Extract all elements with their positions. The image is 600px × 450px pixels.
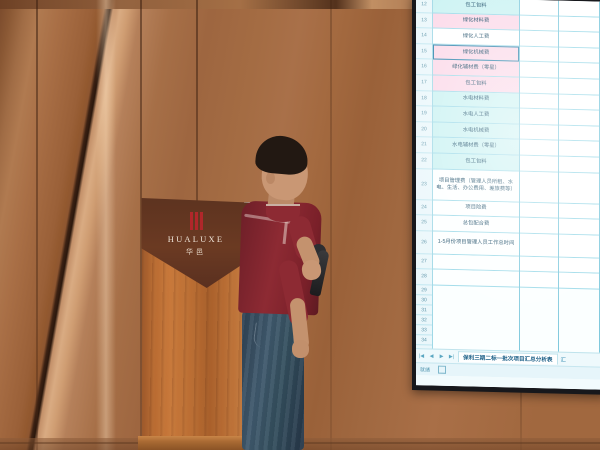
table-cell[interactable]: [520, 233, 558, 257]
next-sheet-tab[interactable]: 汇: [561, 355, 567, 363]
lectern-branding: HUALUXE 华邑: [150, 212, 242, 257]
table-cell[interactable]: [520, 140, 558, 157]
row-number[interactable]: 24: [416, 200, 432, 216]
table-cell[interactable]: [559, 32, 599, 49]
table-cell[interactable]: [559, 16, 599, 33]
row-number[interactable]: 25: [416, 215, 432, 231]
row-number[interactable]: 30: [416, 295, 432, 305]
table-cell[interactable]: [559, 273, 599, 290]
row-number[interactable]: 15: [416, 44, 432, 60]
table-cell[interactable]: [520, 31, 558, 48]
table-cell[interactable]: [559, 125, 599, 142]
table-cell[interactable]: [520, 256, 558, 273]
row-number-column: 12 13 14 15 16 17 18 19 20 21 22 23 24 2…: [416, 0, 433, 349]
brand-name-chinese-label: 华邑: [150, 247, 242, 257]
hualuxe-logo-icon: [190, 212, 203, 230]
table-cell[interactable]: [559, 257, 599, 274]
table-row[interactable]: 1-5月份项目管理人员工作总时间: [433, 231, 519, 256]
table-cell[interactable]: [520, 202, 558, 219]
row-number[interactable]: 20: [416, 122, 432, 138]
table-cell[interactable]: [520, 171, 558, 203]
presenter-ear: [266, 172, 275, 184]
row-number[interactable]: 34: [416, 335, 432, 345]
table-cell[interactable]: [559, 94, 599, 111]
row-number[interactable]: 18: [416, 91, 432, 107]
next-sheet-icon[interactable]: ▶: [438, 353, 445, 359]
table-cell[interactable]: [559, 157, 599, 174]
screenshot-stage: 12 13 14 15 16 17 18 19 20 21 22 23 24 2…: [0, 0, 600, 450]
table-cell[interactable]: [520, 0, 558, 16]
presenter-hair: [254, 134, 309, 176]
status-ready-label: 就绪: [420, 366, 430, 373]
jeans-pocket: [252, 323, 278, 350]
row-number[interactable]: 33: [416, 325, 432, 335]
row-number[interactable]: 23: [416, 169, 432, 200]
brand-name-label: HUALUXE: [150, 234, 242, 244]
spreadsheet-grid[interactable]: 12 13 14 15 16 17 18 19 20 21 22 23 24 2…: [416, 0, 600, 353]
projection-screen-surface: 12 13 14 15 16 17 18 19 20 21 22 23 24 2…: [416, 0, 600, 390]
row-number[interactable]: 21: [416, 137, 432, 153]
table-cell[interactable]: [559, 203, 599, 220]
projection-screen: 12 13 14 15 16 17 18 19 20 21 22 23 24 2…: [412, 0, 600, 395]
excel-spreadsheet[interactable]: 12 13 14 15 16 17 18 19 20 21 22 23 24 2…: [416, 0, 600, 390]
table-cell[interactable]: [520, 93, 558, 110]
row-number[interactable]: 32: [416, 315, 432, 325]
table-cell[interactable]: [520, 62, 558, 79]
table-cell[interactable]: [559, 141, 599, 158]
table-cell[interactable]: [559, 1, 599, 18]
table-row[interactable]: 项目管理费（管理人员所租、水电、生活、办公费用、差旅费等）: [433, 169, 519, 202]
presenter: [240, 132, 380, 450]
table-cell[interactable]: [559, 63, 599, 80]
row-number[interactable]: 17: [416, 75, 432, 91]
wall-seam: [36, 0, 38, 450]
prev-sheet-icon[interactable]: ◀: [428, 353, 435, 359]
table-cell[interactable]: [520, 218, 558, 235]
table-cell[interactable]: [520, 272, 558, 289]
row-number[interactable]: 26: [416, 231, 432, 254]
table-cell[interactable]: [559, 219, 599, 236]
table-row[interactable]: [433, 270, 519, 288]
table-cell[interactable]: [520, 109, 558, 126]
table-cell[interactable]: [559, 234, 599, 258]
row-number[interactable]: 27: [416, 254, 432, 270]
row-number[interactable]: 29: [416, 285, 432, 295]
last-sheet-icon[interactable]: ▶|: [448, 353, 455, 359]
table-cell[interactable]: [559, 110, 599, 127]
row-number[interactable]: 28: [416, 269, 432, 285]
column-c-values: [520, 0, 559, 352]
table-cell[interactable]: [520, 46, 558, 63]
row-number[interactable]: 19: [416, 106, 432, 122]
row-number[interactable]: 13: [416, 13, 432, 29]
column-d-values: [559, 1, 600, 353]
table-cell[interactable]: [559, 47, 599, 64]
table-cell[interactable]: [520, 124, 558, 141]
table-cell[interactable]: [520, 78, 558, 95]
data-columns: 包工包料 绿化材料费 绿化人工费 绿化机械费 绿化辅材费（零星） 包工包料 水电…: [433, 0, 600, 353]
table-cell[interactable]: [520, 15, 558, 32]
presenter-left-hand: [292, 340, 309, 358]
first-sheet-icon[interactable]: |◀: [418, 353, 425, 359]
column-b-labels: 包工包料 绿化材料费 绿化人工费 绿化机械费 绿化辅材费（零星） 包工包料 水电…: [433, 0, 520, 351]
row-number[interactable]: 16: [416, 59, 432, 75]
row-number[interactable]: 12: [416, 0, 432, 13]
table-cell[interactable]: [559, 172, 599, 204]
table-cell[interactable]: [559, 79, 599, 96]
row-number[interactable]: 14: [416, 28, 432, 44]
row-number[interactable]: 31: [416, 305, 432, 315]
table-cell[interactable]: [520, 156, 558, 173]
row-number[interactable]: 22: [416, 153, 432, 169]
grid-view-icon[interactable]: [438, 366, 446, 374]
